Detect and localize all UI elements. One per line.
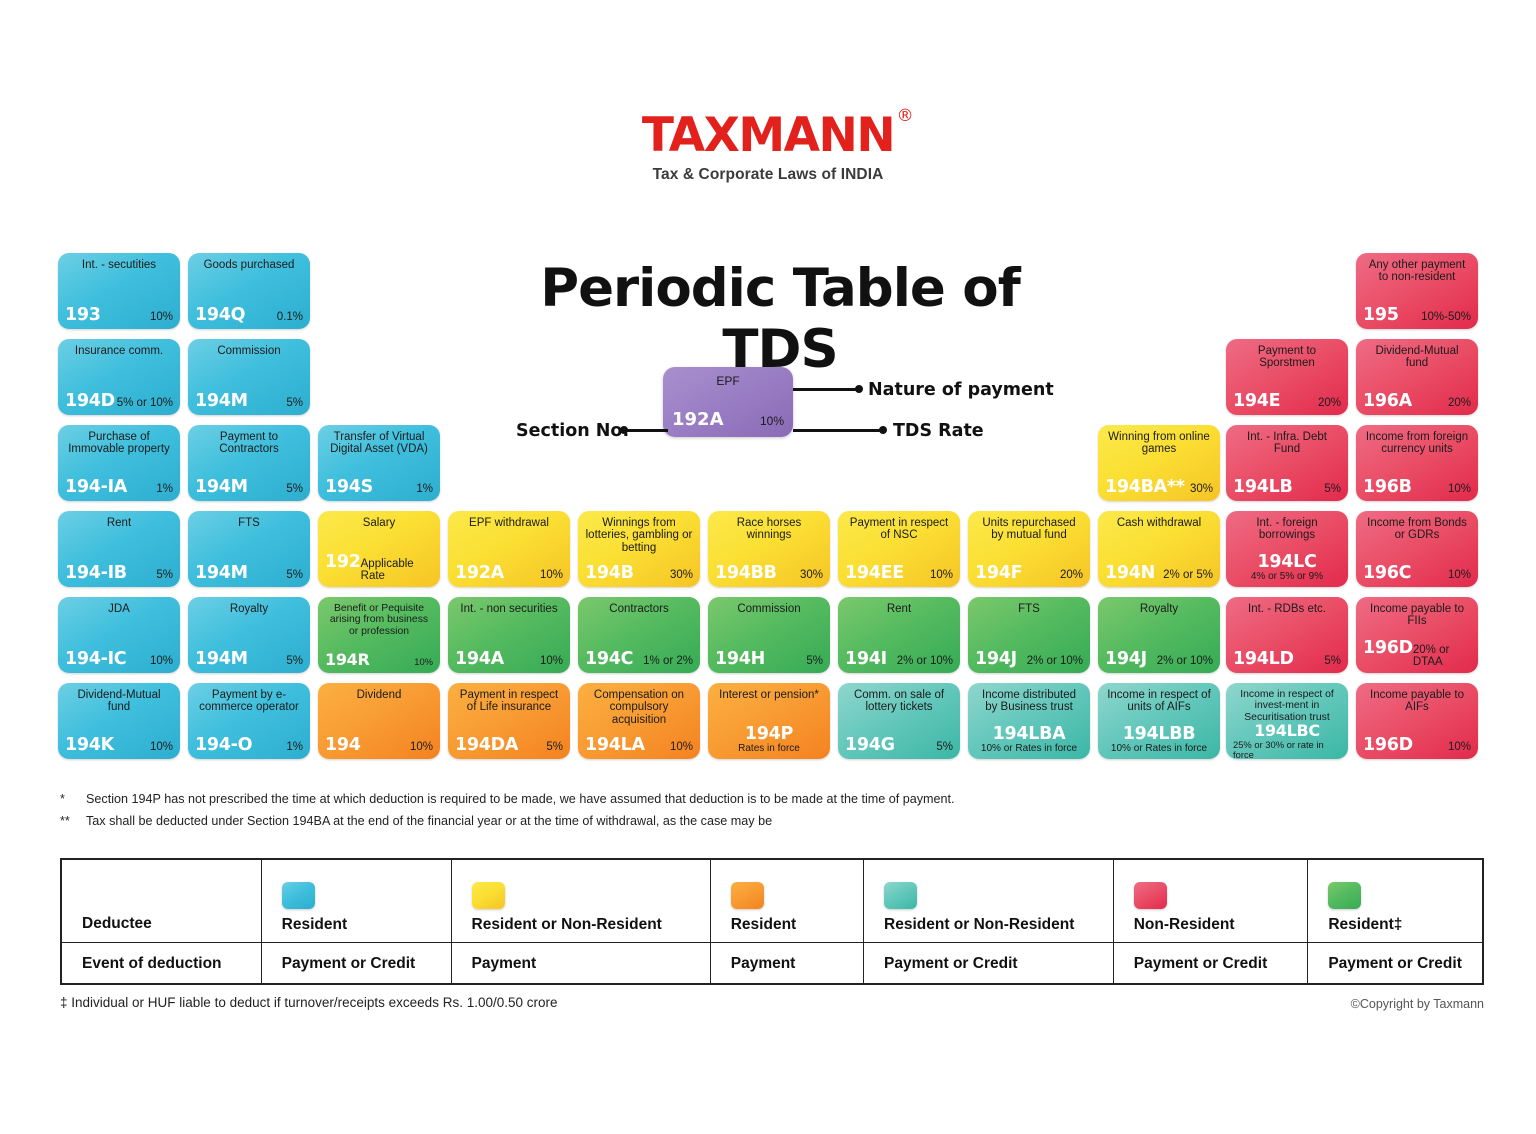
tds-cell-194r[interactable]: Benefit or Pequisite arising from busine… (318, 597, 440, 673)
cell-rate: 10% (150, 312, 173, 324)
legend-swatch-yellow-icon (472, 882, 505, 909)
legend-event-label: Payment (452, 955, 710, 983)
cell-section: 194M (195, 393, 248, 411)
tds-cell-194h[interactable]: Commission194H5% (708, 597, 830, 673)
cell-rate: 10% or Rates in force (981, 744, 1077, 754)
cell-section: 194-IA (65, 479, 127, 497)
cell-section: 196C (1363, 565, 1411, 583)
cell-rate: 10% (414, 657, 433, 666)
cell-nature: Purchase of Immovable property (65, 431, 173, 456)
footnote-text: Tax shall be deducted under Section 194B… (86, 814, 772, 828)
cell-rate: 1% or 2% (643, 656, 693, 668)
cell-nature: Interest or pension* (715, 689, 823, 701)
tds-cell-194q[interactable]: Goods purchased194Q0.1% (188, 253, 310, 329)
legend-deductee-label: Non-Resident (1114, 916, 1308, 942)
cell-section: 194M (195, 565, 248, 583)
legend-cell-deductee-teal: Resident or Non-Resident (864, 859, 1114, 943)
cell-rate: 10% (150, 656, 173, 668)
tds-cell-194a[interactable]: Int. - non securities194A10% (448, 597, 570, 673)
cell-section: 194S (325, 479, 373, 497)
cell-section: 194LB (1233, 479, 1293, 497)
tds-cell-194ba[interactable]: Winning from online games194BA**30% (1098, 425, 1220, 501)
legend-cell-event-orange: Payment (710, 943, 863, 985)
cell-nature: Payment in respect of Life insurance (455, 689, 563, 714)
legend-deductee-label: Resident (262, 916, 451, 942)
cell-rate: 10% (540, 570, 563, 582)
tds-cell-194g[interactable]: Comm. on sale of lottery tickets194G5% (838, 683, 960, 759)
cell-rate: 10% or Rates in force (1111, 744, 1207, 754)
cell-rate: 5% (1324, 656, 1341, 668)
dagger-footnote: ‡ Individual or HUF liable to deduct if … (60, 995, 558, 1010)
cell-section: 194LBC (1254, 723, 1320, 739)
cell-nature: JDA (65, 603, 173, 615)
cell-nature: Payment by e-commerce operator (195, 689, 303, 714)
tds-cell-194-ia[interactable]: Purchase of Immovable property194-IA1% (58, 425, 180, 501)
cell-rate: 20% (1318, 398, 1341, 410)
legend-cell-event-teal: Payment or Credit (864, 943, 1114, 985)
cell-rate: Applicable Rate (361, 559, 433, 582)
cell-rate: 10%-50% (1421, 312, 1471, 324)
cell-nature: Dividend-Mutual fund (65, 689, 173, 714)
legend-cell-deductee-orange: Resident (710, 859, 863, 943)
cell-nature: EPF withdrawal (455, 517, 563, 529)
tds-cell-192[interactable]: Salary192Applicable Rate (318, 511, 440, 587)
tds-cell-194i[interactable]: Rent194I2% or 10% (838, 597, 960, 673)
legend-event-label: Payment or Credit (1308, 955, 1482, 983)
leader-line-rate (793, 429, 883, 432)
tds-cell-194k[interactable]: Dividend-Mutual fund194K10% (58, 683, 180, 759)
cell-section: 193 (65, 307, 101, 325)
tds-cell-194-ib[interactable]: Rent194-IB5% (58, 511, 180, 587)
cell-section: 194D (65, 393, 115, 411)
cell-rate: 10% (540, 656, 563, 668)
cell-nature: Dividend (325, 689, 433, 701)
cell-section: 194Q (195, 307, 245, 325)
cell-section: 194DA (455, 737, 518, 755)
leader-dot-rate (879, 426, 887, 434)
cell-nature: Payment to Contractors (195, 431, 303, 456)
cell-section: 194G (845, 737, 895, 755)
cell-nature: Int. - secutities (65, 259, 173, 271)
cell-nature: FTS (195, 517, 303, 529)
cell-nature: Rent (845, 603, 953, 615)
cell-section: 194A (455, 651, 504, 669)
cell-section: 194LA (585, 737, 645, 755)
cell-nature: Cash withdrawal (1105, 517, 1213, 529)
sample-cell: EPF 192A 10% (663, 367, 793, 437)
cell-rate: 5% (286, 484, 303, 496)
cell-section: 196D (1363, 640, 1413, 658)
cell-section: 194B (585, 565, 634, 583)
legend-deductee-label: Resident‡ (1308, 916, 1482, 942)
tds-cell-194m[interactable]: Royalty194M5% (188, 597, 310, 673)
tds-cell-194e[interactable]: Payment to Sporstmen194E20% (1226, 339, 1348, 415)
cell-section: 194H (715, 651, 765, 669)
tds-cell-194lba[interactable]: Income distributed by Business trust194L… (968, 683, 1090, 759)
cell-nature: FTS (975, 603, 1083, 615)
brand-wordmark: TAXMANN ® (642, 112, 894, 159)
callout-label-rate: TDS Rate (893, 421, 984, 441)
cell-section: 194-IC (65, 651, 126, 669)
tds-cell-194j[interactable]: FTS194J2% or 10% (968, 597, 1090, 673)
tds-cell-194m[interactable]: FTS194M5% (188, 511, 310, 587)
leader-line-nature (793, 388, 859, 391)
cell-rate: 1% (416, 484, 433, 496)
cell-section: 194R (325, 652, 370, 668)
tds-cell-194n[interactable]: Cash withdrawal194N2% or 5% (1098, 511, 1220, 587)
tds-cell-194ld[interactable]: Int. - RDBs etc.194LD5% (1226, 597, 1348, 673)
cell-section: 194 (325, 737, 361, 755)
tds-cell-194d[interactable]: Insurance comm.194D5% or 10% (58, 339, 180, 415)
legend-table: Deductee ResidentResident or Non-Residen… (60, 858, 1484, 985)
brand-word-text: TAXMANN (642, 108, 894, 163)
cell-rate: 5% (286, 398, 303, 410)
tds-cell-192a[interactable]: EPF withdrawal192A10% (448, 511, 570, 587)
callout-label-section: Section No. (516, 421, 629, 441)
tds-cell-194j[interactable]: Royalty194J2% or 10% (1098, 597, 1220, 673)
brand-logo: TAXMANN ® Tax & Corporate Laws of INDIA (628, 112, 908, 184)
tds-cell-194m[interactable]: Commission194M5% (188, 339, 310, 415)
cell-nature: Income payable to AIFs (1363, 689, 1471, 714)
cell-rate: 10% (930, 570, 953, 582)
tds-cell-194f[interactable]: Units repurchased by mutual fund194F20% (968, 511, 1090, 587)
cell-nature: Transfer of Virtual Digital Asset (VDA) (325, 431, 433, 456)
footnote-marker: ** (60, 813, 86, 829)
cell-rate: 5% (806, 656, 823, 668)
cell-nature: Goods purchased (195, 259, 303, 271)
sample-cell-section: 192A (672, 409, 724, 430)
cell-nature: Comm. on sale of lottery tickets (845, 689, 953, 714)
cell-nature: Income payable to FIIs (1363, 603, 1471, 628)
legend-header-deductee-label: Deductee (62, 915, 261, 942)
tds-cell-194c[interactable]: Contractors194C1% or 2% (578, 597, 700, 673)
legend-event-label: Payment (711, 955, 863, 983)
cell-rate: 1% (156, 484, 173, 496)
cell-section: 194BA** (1105, 479, 1185, 497)
sample-cell-nature: EPF (672, 374, 784, 388)
cell-nature: Rent (65, 517, 173, 529)
cell-section: 196A (1363, 393, 1412, 411)
cell-section: 194F (975, 565, 1022, 583)
leader-line-section (626, 429, 668, 432)
cell-nature: Commission (195, 345, 303, 357)
tds-cell-194da[interactable]: Payment in respect of Life insurance194D… (448, 683, 570, 759)
cell-rate: 2% or 10% (1027, 656, 1083, 668)
cell-nature: Winning from online games (1105, 431, 1213, 456)
footnote-text: Section 194P has not prescribed the time… (86, 792, 955, 806)
legend-cell-deductee-yellow: Resident or Non-Resident (451, 859, 710, 943)
cell-rate: 20% (1060, 570, 1083, 582)
cell-rate: 2% or 10% (1157, 656, 1213, 668)
tds-cell-194bb[interactable]: Race horses winnings194BB30% (708, 511, 830, 587)
legend-swatch-red-icon (1134, 882, 1167, 909)
cell-nature: Winnings from lotteries, gambling or bet… (585, 517, 693, 554)
cell-section: 194M (195, 651, 248, 669)
legend-swatch-orange-icon (731, 882, 764, 909)
cell-rate: 30% (1190, 484, 1213, 496)
cell-nature: Payment in respect of NSC (845, 517, 953, 542)
tds-cell-194ee[interactable]: Payment in respect of NSC194EE10% (838, 511, 960, 587)
legend-swatch-blue-icon (282, 882, 315, 909)
cell-rate: 10% (410, 742, 433, 754)
cell-nature: Compensation on compulsory acquisition (585, 689, 693, 726)
cell-nature: Dividend-Mutual fund (1363, 345, 1471, 370)
cell-rate: 0.1% (277, 312, 303, 324)
cell-rate: 25% or 30% or rate in force (1233, 740, 1341, 759)
cell-rate: 10% (1448, 570, 1471, 582)
cell-section: 194M (195, 479, 248, 497)
legend-row-event: Event of deduction Payment or CreditPaym… (61, 943, 1483, 985)
cell-nature: Benefit or Pequisite arising from busine… (325, 603, 433, 637)
legend-cell-event-yellow: Payment (451, 943, 710, 985)
cell-section: 194LC (1257, 554, 1316, 572)
cell-rate: 2% or 5% (1163, 570, 1213, 582)
cell-nature: Insurance comm. (65, 345, 173, 357)
tds-cell-194la[interactable]: Compensation on compulsory acquisition19… (578, 683, 700, 759)
legend-cell-event-blue: Payment or Credit (261, 943, 451, 985)
cell-rate: 10% (1448, 484, 1471, 496)
cell-nature: Income in respect of invest-ment in Secu… (1233, 689, 1341, 723)
cell-section: 196B (1363, 479, 1412, 497)
cell-nature: Contractors (585, 603, 693, 615)
cell-rate: 5% (156, 570, 173, 582)
cell-section: 194J (975, 651, 1017, 669)
cell-rate: 2% or 10% (897, 656, 953, 668)
cell-section: 194LBB (1123, 726, 1196, 744)
cell-nature: Int. - non securities (455, 603, 563, 615)
brand-tagline: Tax & Corporate Laws of INDIA (628, 166, 908, 184)
tds-cell-196a[interactable]: Dividend-Mutual fund196A20% (1356, 339, 1478, 415)
cell-section: 192 (325, 554, 361, 572)
tds-cell-196c[interactable]: Income from Bonds or GDRs196C10% (1356, 511, 1478, 587)
cell-nature: Units repurchased by mutual fund (975, 517, 1083, 542)
tds-cell-193[interactable]: Int. - secutities19310% (58, 253, 180, 329)
cell-section: 194J (1105, 651, 1147, 669)
registered-trademark-icon: ® (897, 108, 913, 125)
cell-rate: 10% (1448, 742, 1471, 754)
cell-rate: 4% or 5% or 9% (1251, 572, 1323, 582)
legend-header-deductee: Deductee (61, 859, 261, 943)
cell-rate: 5% or 10% (117, 398, 173, 410)
cell-section: 194N (1105, 565, 1155, 583)
cell-section: 196D (1363, 737, 1413, 755)
cell-nature: Int. - RDBs etc. (1233, 603, 1341, 615)
tds-cell-196d[interactable]: Income payable to FIIs196D20% or DTAA (1356, 597, 1478, 673)
cell-nature: Any other payment to non-resident (1363, 259, 1471, 284)
cell-rate: 5% (936, 742, 953, 754)
cell-nature: Royalty (195, 603, 303, 615)
legend-header-event-label: Event of deduction (62, 955, 261, 983)
tds-cell-194lbb[interactable]: Income in respect of units of AIFs194LBB… (1098, 683, 1220, 759)
cell-rate: 1% (286, 742, 303, 754)
cell-rate: 10% (150, 742, 173, 754)
footnote-marker: * (60, 791, 86, 807)
cell-section: 194-IB (65, 565, 127, 583)
legend-cell-event-red: Payment or Credit (1113, 943, 1308, 985)
legend-deductee-label: Resident or Non-Resident (864, 916, 1113, 942)
callout-label-nature: Nature of payment (868, 380, 1054, 400)
cell-section: 194EE (845, 565, 904, 583)
tds-cell-194lb[interactable]: Int. - Infra. Debt Fund194LB5% (1226, 425, 1348, 501)
cell-rate: 20% or DTAA (1413, 645, 1471, 668)
cell-rate: 5% (546, 742, 563, 754)
legend-swatch-green-icon (1328, 882, 1361, 909)
legend-deductee-label: Resident (711, 916, 863, 942)
legend-header-event: Event of deduction (61, 943, 261, 985)
cell-nature: Int. - foreign borrowings (1233, 517, 1341, 542)
tds-cell-194p[interactable]: Interest or pension*194PRates in force (708, 683, 830, 759)
cell-rate: 10% (670, 742, 693, 754)
cell-section: 194I (845, 651, 887, 669)
cell-rate: 30% (670, 570, 693, 582)
legend-cell-deductee-green: Resident‡ (1308, 859, 1483, 943)
cell-section: 195 (1363, 307, 1399, 325)
cell-section: 194C (585, 651, 633, 669)
tds-cell-194lbc[interactable]: Income in respect of invest-ment in Secu… (1226, 683, 1348, 759)
legend-row-deductee: Deductee ResidentResident or Non-Residen… (61, 859, 1483, 943)
leader-dot-nature (855, 385, 863, 393)
legend-cell-deductee-blue: Resident (261, 859, 451, 943)
sample-cell-rate: 10% (760, 414, 784, 428)
tds-cell-194m[interactable]: Payment to Contractors194M5% (188, 425, 310, 501)
legend-cell-deductee-red: Non-Resident (1113, 859, 1308, 943)
cell-section: 194LD (1233, 651, 1294, 669)
cell-nature: Commission (715, 603, 823, 615)
cell-rate: 30% (800, 570, 823, 582)
legend-event-label: Payment or Credit (864, 955, 1113, 983)
tds-cell-194s[interactable]: Transfer of Virtual Digital Asset (VDA)1… (318, 425, 440, 501)
cell-section: 192A (455, 565, 504, 583)
footnote-1: *Section 194P has not prescribed the tim… (60, 791, 955, 807)
tds-cell-195[interactable]: Any other payment to non-resident19510%-… (1356, 253, 1478, 329)
cell-nature: Int. - Infra. Debt Fund (1233, 431, 1341, 456)
cell-nature: Salary (325, 517, 433, 529)
cell-rate: 5% (286, 656, 303, 668)
cell-nature: Income distributed by Business trust (975, 689, 1083, 714)
cell-rate: 5% (1324, 484, 1341, 496)
copyright-notice: ©Copyright by Taxmann (1351, 997, 1484, 1011)
tds-cell-194[interactable]: Dividend19410% (318, 683, 440, 759)
cell-rate: Rates in force (738, 744, 800, 754)
tds-cell-196b[interactable]: Income from foreign currency units196B10… (1356, 425, 1478, 501)
cell-section: 194BB (715, 565, 777, 583)
footnote-2: **Tax shall be deducted under Section 19… (60, 813, 772, 829)
cell-nature: Income in respect of units of AIFs (1105, 689, 1213, 714)
cell-section: 194E (1233, 393, 1280, 411)
cell-section: 194LBA (993, 726, 1066, 744)
tds-cell-194b[interactable]: Winnings from lotteries, gambling or bet… (578, 511, 700, 587)
tds-cell-194-o[interactable]: Payment by e-commerce operator194-O1% (188, 683, 310, 759)
cell-rate: 5% (286, 570, 303, 582)
legend-swatch-teal-icon (884, 882, 917, 909)
tds-cell-194lc[interactable]: Int. - foreign borrowings194LC4% or 5% o… (1226, 511, 1348, 587)
legend-event-label: Payment or Credit (262, 955, 451, 983)
cell-nature: Payment to Sporstmen (1233, 345, 1341, 370)
cell-section: 194K (65, 737, 114, 755)
legend-deductee-label: Resident or Non-Resident (452, 916, 710, 942)
cell-nature: Race horses winnings (715, 517, 823, 542)
cell-section: 194-O (195, 737, 252, 755)
cell-nature: Royalty (1105, 603, 1213, 615)
cell-section: 194P (745, 726, 793, 744)
tds-cell-194-ic[interactable]: JDA194-IC10% (58, 597, 180, 673)
legend-event-label: Payment or Credit (1114, 955, 1308, 983)
cell-rate: 20% (1448, 398, 1471, 410)
legend-cell-event-green: Payment or Credit (1308, 943, 1483, 985)
page-title: Periodic Table of TDS (480, 258, 1080, 380)
cell-nature: Income from Bonds or GDRs (1363, 517, 1471, 542)
tds-cell-196d[interactable]: Income payable to AIFs196D10% (1356, 683, 1478, 759)
cell-nature: Income from foreign currency units (1363, 431, 1471, 456)
